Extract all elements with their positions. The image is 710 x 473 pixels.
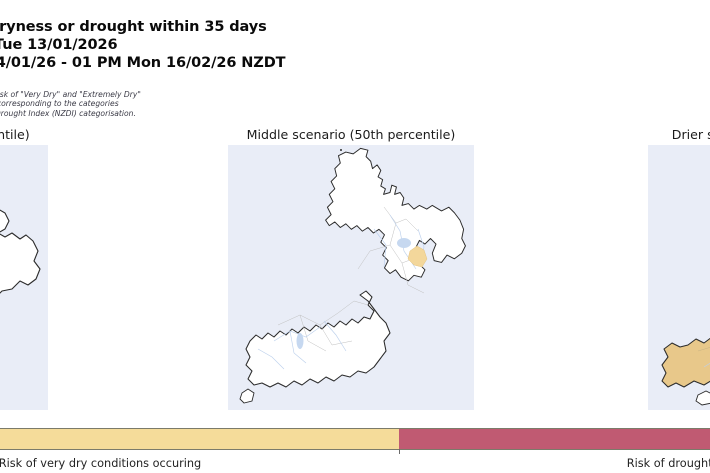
legend: Risk of very dry conditions occuring Ris… (0, 428, 710, 473)
legend-ticks (0, 449, 710, 455)
map-panel-drier[interactable]: Drier scenario (90th percentile) (648, 125, 710, 145)
map-svg-drier (648, 145, 710, 410)
legend-label-very-dry: Risk of very dry conditions occuring (0, 456, 201, 472)
lake-taupo (397, 238, 411, 248)
map-svg-middle (228, 145, 474, 410)
subtitle-line-1: Shaded areas show risk of "Very Dry" and… (0, 90, 438, 99)
map-panel-wetter[interactable]: Wetter scenario (10th percentile) (0, 125, 48, 145)
map-svg-wetter (0, 145, 48, 410)
map-panel-middle-title: Middle scenario (50th percentile) (228, 125, 474, 145)
subtitle-line-2: conditions occuring, corresponding to th… (0, 99, 438, 108)
map-panel-drier-title: Drier scenario (90th percentile) (648, 125, 710, 145)
legend-color-bar (0, 428, 710, 450)
map-canvas-middle[interactable] (228, 145, 474, 410)
model-run-line: Model run: 12 UTC Tue 13/01/2026 (0, 36, 540, 54)
map-panel-middle[interactable]: Middle scenario (50th percentile) (228, 125, 474, 145)
legend-band-very-dry (0, 429, 399, 449)
legend-label-drought: Risk of drought occurring (627, 456, 710, 472)
legend-tick-boundary (399, 449, 400, 454)
subtitle-block: Shaded areas show risk of "Very Dry" and… (0, 90, 438, 118)
map-canvas-drier[interactable] (648, 145, 710, 410)
map-panels-row: Wetter scenario (10th percentile) (0, 125, 710, 415)
map-panel-wetter-title: Wetter scenario (10th percentile) (0, 125, 48, 145)
offshore-island-dot (340, 149, 342, 151)
legend-labels: Risk of very dry conditions occuring Ris… (0, 456, 710, 472)
subtitle-line-3: of the New Zealand Drought Index (NZDI) … (0, 109, 438, 118)
title-block: Risk of increasing dryness or drought wi… (0, 18, 540, 72)
map-canvas-wetter[interactable] (0, 145, 48, 410)
legend-band-drought (399, 429, 710, 449)
page-title: Risk of increasing dryness or drought wi… (0, 18, 540, 36)
valid-period-line: Valid: 01 PM Wed 14/01/26 - 01 PM Mon 16… (0, 54, 540, 72)
